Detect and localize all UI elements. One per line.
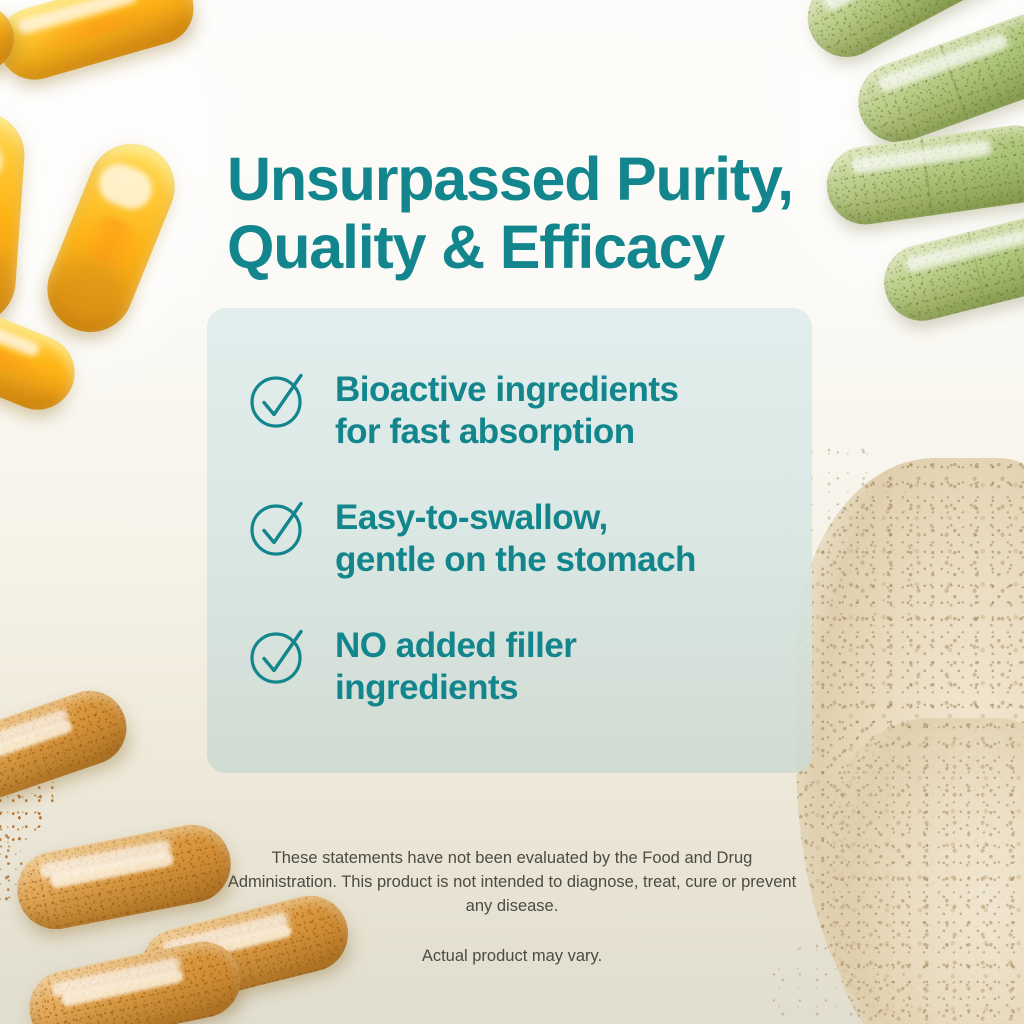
- check-circle-icon: [247, 369, 309, 431]
- benefits-card: Bioactive ingredients for fast absorptio…: [207, 308, 812, 773]
- benefit-line-1: Bioactive ingredients: [335, 369, 678, 411]
- benefit-line-1: Easy-to-swallow,: [335, 497, 696, 539]
- infographic-canvas: Unsurpassed Purity, Quality & Efficacy B…: [0, 0, 1024, 1024]
- product-variation-note: Actual product may vary.: [222, 944, 802, 968]
- headline-line-2: Quality & Efficacy: [227, 213, 847, 281]
- benefit-item-easy-to-swallow: Easy-to-swallow, gentle on the stomach: [247, 493, 696, 581]
- benefit-line-2: for fast absorption: [335, 411, 678, 453]
- benefit-text: Easy-to-swallow, gentle on the stomach: [335, 493, 696, 581]
- benefit-line-2: ingredients: [335, 667, 576, 709]
- benefit-text: NO added filler ingredients: [335, 621, 576, 709]
- page-title: Unsurpassed Purity, Quality & Efficacy: [227, 145, 847, 281]
- disclaimer: These statements have not been evaluated…: [222, 846, 802, 968]
- fda-disclaimer-text: These statements have not been evaluated…: [222, 846, 802, 918]
- benefit-text: Bioactive ingredients for fast absorptio…: [335, 365, 678, 453]
- benefit-line-1: NO added filler: [335, 625, 576, 667]
- benefit-item-bioactive: Bioactive ingredients for fast absorptio…: [247, 365, 678, 453]
- benefit-item-no-fillers: NO added filler ingredients: [247, 621, 576, 709]
- check-circle-icon: [247, 497, 309, 559]
- headline-line-1: Unsurpassed Purity,: [227, 145, 847, 213]
- benefit-line-2: gentle on the stomach: [335, 539, 696, 581]
- check-circle-icon: [247, 625, 309, 687]
